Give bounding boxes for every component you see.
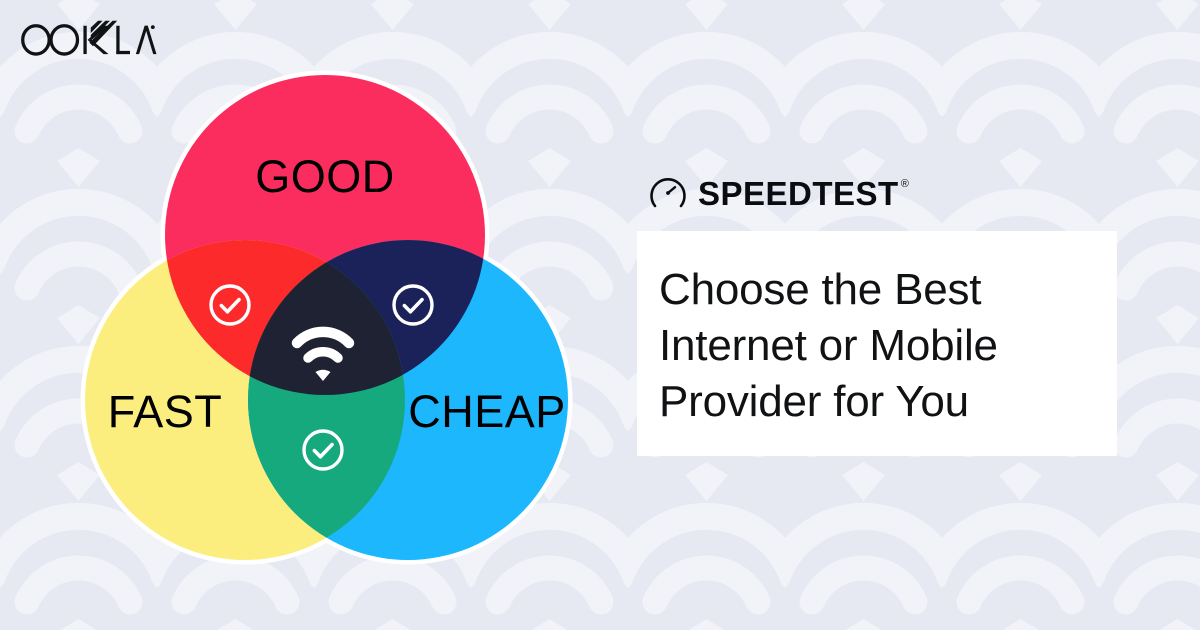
headline-line-2: Internet or Mobile: [659, 318, 1117, 374]
venn-label-cheap: CHEAP: [408, 386, 566, 437]
headline-line-1: Choose the Best: [659, 262, 1117, 318]
speedometer-icon: [649, 174, 687, 212]
social-card-canvas: GOOD FAST CHEAP: [0, 0, 1200, 630]
ookla-logo: [18, 18, 158, 60]
venn-label-fast: FAST: [108, 386, 223, 437]
page-title: Choose the Best Internet or Mobile Provi…: [659, 262, 1117, 430]
right-content-column: SPEEDTEST ® Choose the Best Internet or …: [637, 170, 1127, 456]
speedtest-wordmark: SPEEDTEST: [698, 177, 899, 210]
speedtest-registered-mark: ®: [901, 178, 909, 190]
speedtest-logo-lockup: SPEEDTEST ®: [649, 170, 1127, 216]
venn-label-good: GOOD: [255, 151, 395, 202]
venn-diagram: GOOD FAST CHEAP: [55, 60, 615, 580]
headline-card: Choose the Best Internet or Mobile Provi…: [637, 231, 1117, 456]
headline-line-3: Provider for You: [659, 374, 1117, 430]
